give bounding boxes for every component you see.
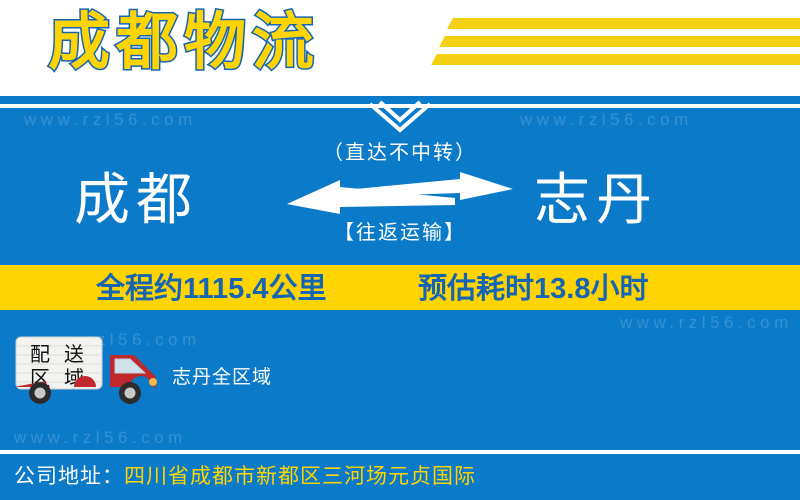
page-title: 成都物流 [48,3,320,83]
route-middle: （直达不中转） 【往返运输】 [270,140,530,246]
company-address: 公司地址：四川省成都市新都区三河场元贞国际 [14,463,476,491]
banner-header: 成都物流 [0,0,800,96]
svg-text:配: 配 [30,344,50,366]
stripe-1 [447,18,800,29]
coverage-text: 志丹全区域 [172,366,272,390]
watermark: www.rzl56.com [620,313,793,333]
watermark: www.rzl56.com [14,428,187,448]
destination-city: 志丹 [534,168,658,232]
decorative-stripes [400,0,800,96]
distance-text: 全程约1115.4公里 [96,272,327,306]
route-note-bottom: 【往返运输】 [270,220,530,246]
address-label: 公司地址： [14,465,124,488]
stripe-3 [431,54,800,65]
duration-text: 预估耗时13.8小时 [418,272,648,306]
chevron-down-icon [366,100,434,134]
logistics-banner: 成都物流 www.rzl56.com www.rzl56.com www.rzl… [0,0,800,500]
double-arrow-icon [285,172,515,216]
route-note-top: （直达不中转） [270,140,530,166]
watermark: www.rzl56.com [520,110,693,130]
origin-city: 成都 [74,168,198,232]
address-value: 四川省成都市新都区三河场元贞国际 [124,465,476,488]
delivery-truck-icon: 配 送 区 域 [8,333,160,405]
watermark: www.rzl56.com [24,110,197,130]
bottom-divider [0,450,800,454]
stripe-2 [439,36,800,47]
svg-text:送: 送 [64,343,84,366]
